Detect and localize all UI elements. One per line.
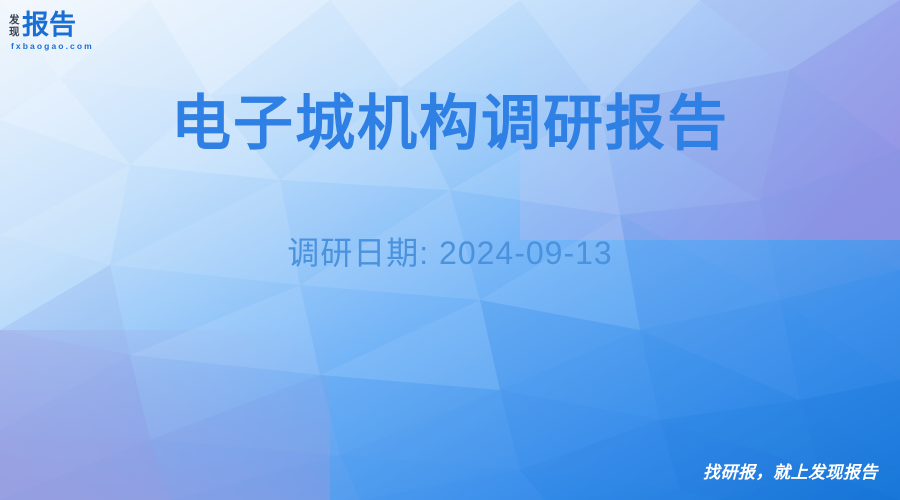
logo-mark-line1: 发 — [9, 14, 19, 26]
report-cover-slide: 发 现 报告 fxbaogao.com 电子城机构调研报告 调研日期: 2024… — [0, 0, 900, 500]
footer-tagline: 找研报，就上发现报告 — [703, 462, 878, 484]
logo-row: 发 现 报告 — [9, 9, 139, 39]
page-title: 电子城机构调研报告 — [0, 88, 900, 160]
brand-logo[interactable]: 发 现 报告 fxbaogao.com — [9, 9, 139, 51]
logo-mark-line2: 现 — [9, 26, 19, 38]
logo-domain: fxbaogao.com — [11, 41, 139, 51]
logo-wordmark: 报告 — [22, 11, 76, 39]
logo-mark: 发 现 — [9, 14, 19, 39]
survey-date-subtitle: 调研日期: 2024-09-13 — [0, 233, 900, 273]
cover-title-block: 电子城机构调研报告 调研日期: 2024-09-13 — [0, 88, 900, 273]
